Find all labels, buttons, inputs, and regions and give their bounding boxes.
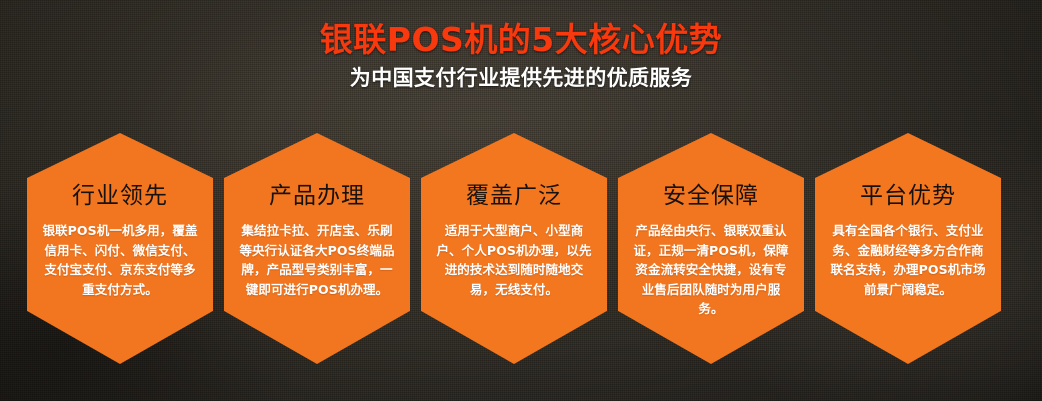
- advantage-card-security-guarantee[interactable]: 安全保障 产品经由央行、银联双重认证，正规一清POS机，保障资金流转安全快捷，设…: [618, 133, 804, 364]
- advantage-card-title: 行业领先: [27, 182, 213, 210]
- promo-banner: 银联POS机的5大核心优势 为中国支付行业提供先进的优质服务 行业领先 银联PO…: [0, 0, 1042, 401]
- page-subtitle: 为中国支付行业提供先进的优质服务: [0, 59, 1042, 91]
- advantage-card-body: 具有全国各个银行、支付业务、金融财经等多方合作商联名支持，办理POS机市场前景广…: [829, 221, 987, 299]
- page-title: 银联POS机的5大核心优势: [0, 0, 1042, 59]
- advantage-card-title: 覆盖广泛: [421, 182, 607, 210]
- advantage-card-body: 产品经由央行、银联双重认证，正规一清POS机，保障资金流转安全快捷，设有专业售后…: [632, 221, 790, 319]
- advantage-hexagon-row: 行业领先 银联POS机一机多用，覆盖信用卡、闪付、微信支付、支付宝支付、京东支付…: [27, 133, 1015, 365]
- advantage-card-body: 集结拉卡拉、开店宝、乐刷等央行认证各大POS终端品牌，产品型号类别丰富，一键即可…: [238, 221, 396, 299]
- advantage-card-title: 安全保障: [618, 182, 804, 210]
- banner-header: 银联POS机的5大核心优势 为中国支付行业提供先进的优质服务: [0, 0, 1042, 91]
- advantage-card-body: 银联POS机一机多用，覆盖信用卡、闪付、微信支付、支付宝支付、京东支付等多重支付…: [41, 221, 199, 299]
- advantage-card-title: 产品办理: [224, 182, 410, 210]
- advantage-card-industry-leading[interactable]: 行业领先 银联POS机一机多用，覆盖信用卡、闪付、微信支付、支付宝支付、京东支付…: [27, 133, 213, 364]
- advantage-card-platform-advantage[interactable]: 平台优势 具有全国各个银行、支付业务、金融财经等多方合作商联名支持，办理POS机…: [815, 133, 1001, 364]
- advantage-card-wide-coverage[interactable]: 覆盖广泛 适用于大型商户、小型商户、个人POS机办理，以先进的技术达到随时随地交…: [421, 133, 607, 364]
- advantage-card-product-application[interactable]: 产品办理 集结拉卡拉、开店宝、乐刷等央行认证各大POS终端品牌，产品型号类别丰富…: [224, 133, 410, 364]
- advantage-card-title: 平台优势: [815, 182, 1001, 210]
- advantage-card-body: 适用于大型商户、小型商户、个人POS机办理，以先进的技术达到随时随地交易，无线支…: [435, 221, 593, 299]
